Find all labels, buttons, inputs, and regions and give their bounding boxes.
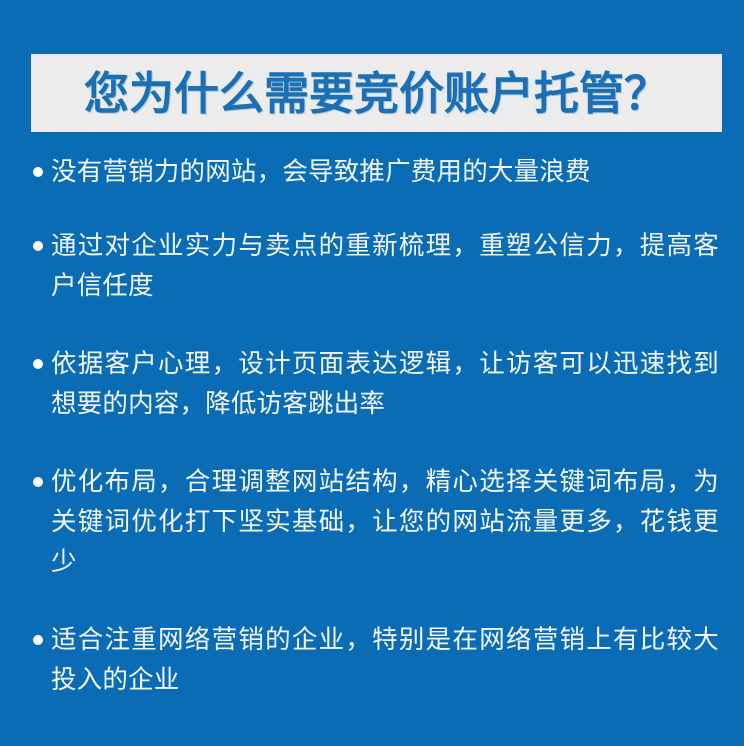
list-item-label: 通过对企业实力与卖点的重新梳理，重塑公信力，提高客户信任度	[51, 226, 719, 306]
list-item-label: 没有营销力的网站，会导致推广费用的大量浪费	[51, 152, 719, 192]
bullet-dot-icon	[33, 241, 43, 251]
list-item-label: 依据客户心理，设计页面表达逻辑，让访客可以迅速找到想要的内容，降低访客跳出率	[51, 344, 719, 424]
benefits-list: 没有营销力的网站，会导致推广费用的大量浪费 通过对企业实力与卖点的重新梳理，重塑…	[33, 152, 719, 700]
bullet-dot-icon	[33, 359, 43, 369]
list-item: 依据客户心理，设计页面表达逻辑，让访客可以迅速找到想要的内容，降低访客跳出率	[33, 344, 719, 424]
list-item: 通过对企业实力与卖点的重新梳理，重塑公信力，提高客户信任度	[33, 226, 719, 306]
list-item: 没有营销力的网站，会导致推广费用的大量浪费	[33, 152, 719, 192]
list-item-label: 适合注重网络营销的企业，特别是在网络营销上有比较大投入的企业	[51, 620, 719, 700]
title-banner: 您为什么需要竞价账户托管？	[31, 54, 722, 132]
bullet-dot-icon	[33, 477, 43, 487]
bullet-dot-icon	[33, 635, 43, 645]
page-title: 您为什么需要竞价账户托管？	[84, 71, 669, 116]
poster-root: 您为什么需要竞价账户托管？ 没有营销力的网站，会导致推广费用的大量浪费 通过对企…	[0, 0, 744, 746]
list-item-label: 优化布局，合理调整网站结构，精心选择关键词布局，为关键词优化打下坚实基础，让您的…	[51, 462, 719, 582]
bullet-dot-icon	[33, 167, 43, 177]
list-item: 优化布局，合理调整网站结构，精心选择关键词布局，为关键词优化打下坚实基础，让您的…	[33, 462, 719, 582]
list-item: 适合注重网络营销的企业，特别是在网络营销上有比较大投入的企业	[33, 620, 719, 700]
